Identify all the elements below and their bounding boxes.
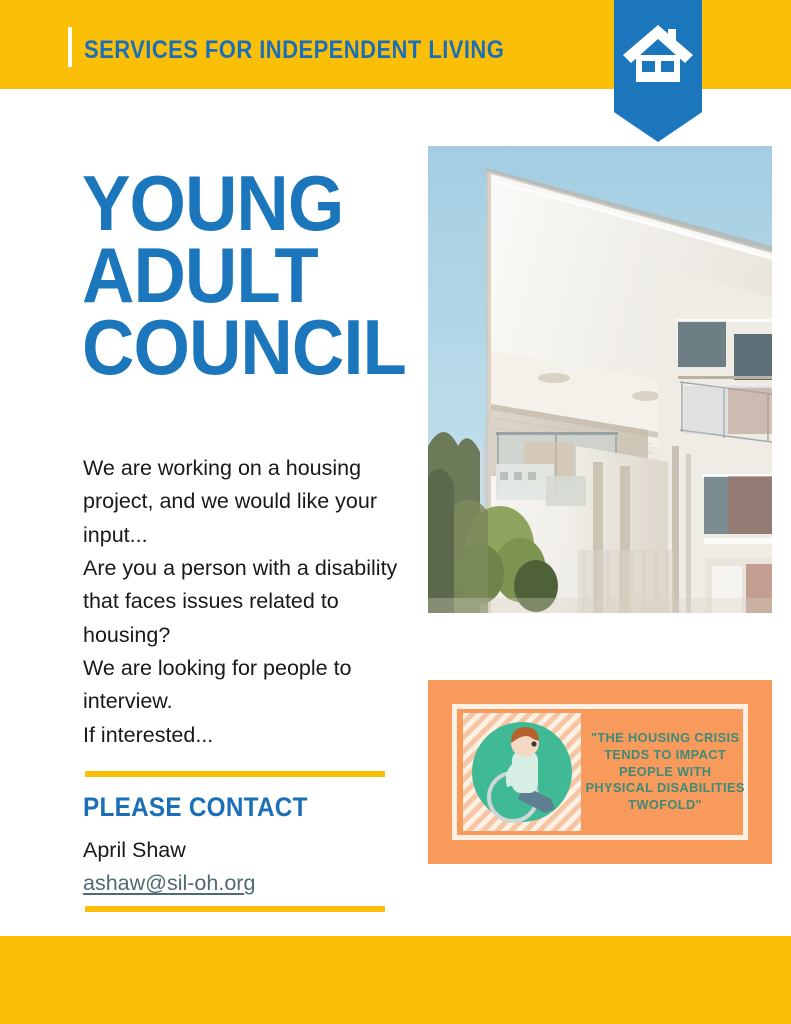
divider-above-contact	[85, 771, 385, 777]
contact-name: April Shaw	[83, 838, 186, 863]
quote-line-1: "THE HOUSING CRISIS	[585, 730, 744, 747]
person-in-wheelchair-icon	[463, 713, 581, 831]
title-line-1: YOUNG	[82, 168, 398, 240]
house-icon	[621, 22, 695, 84]
title-line-3: COUNCIL	[82, 312, 398, 384]
title-line-2: ADULT	[82, 240, 398, 312]
body-copy: We are working on a housing project, and…	[83, 452, 413, 752]
quote-line-4: PHYSICAL DISABILITIES	[585, 780, 744, 797]
body-paragraph-2: Are you a person with a disability that …	[83, 552, 413, 652]
body-paragraph-4: If interested...	[83, 719, 413, 752]
quote-line-5: TWOFOLD"	[585, 797, 744, 814]
header-accent-rule	[68, 27, 72, 67]
quote-card-frame: "THE HOUSING CRISIS TENDS TO IMPACT PEOP…	[452, 704, 748, 840]
quote-text: "THE HOUSING CRISIS TENDS TO IMPACT PEOP…	[584, 730, 749, 814]
building-photo-illustration	[428, 146, 772, 613]
building-photo	[428, 146, 772, 613]
footer-band	[0, 936, 791, 1024]
page-title: YOUNG ADULT COUNCIL	[82, 168, 398, 383]
quote-line-3: PEOPLE WITH	[585, 764, 744, 781]
body-paragraph-1: We are working on a housing project, and…	[83, 452, 413, 552]
quote-line-2: TENDS TO IMPACT	[585, 747, 744, 764]
organization-name: SERVICES FOR INDEPENDENT LIVING	[84, 38, 504, 63]
contact-email-link[interactable]: ashaw@sil-oh.org	[83, 871, 255, 896]
body-paragraph-3: We are looking for people to interview.	[83, 652, 413, 719]
quote-card: "THE HOUSING CRISIS TENDS TO IMPACT PEOP…	[428, 680, 772, 864]
divider-below-contact	[85, 906, 385, 912]
contact-heading: PLEASE CONTACT	[83, 792, 308, 823]
flyer-page: SERVICES FOR INDEPENDENT LIVING YOUNG AD…	[0, 0, 791, 1024]
